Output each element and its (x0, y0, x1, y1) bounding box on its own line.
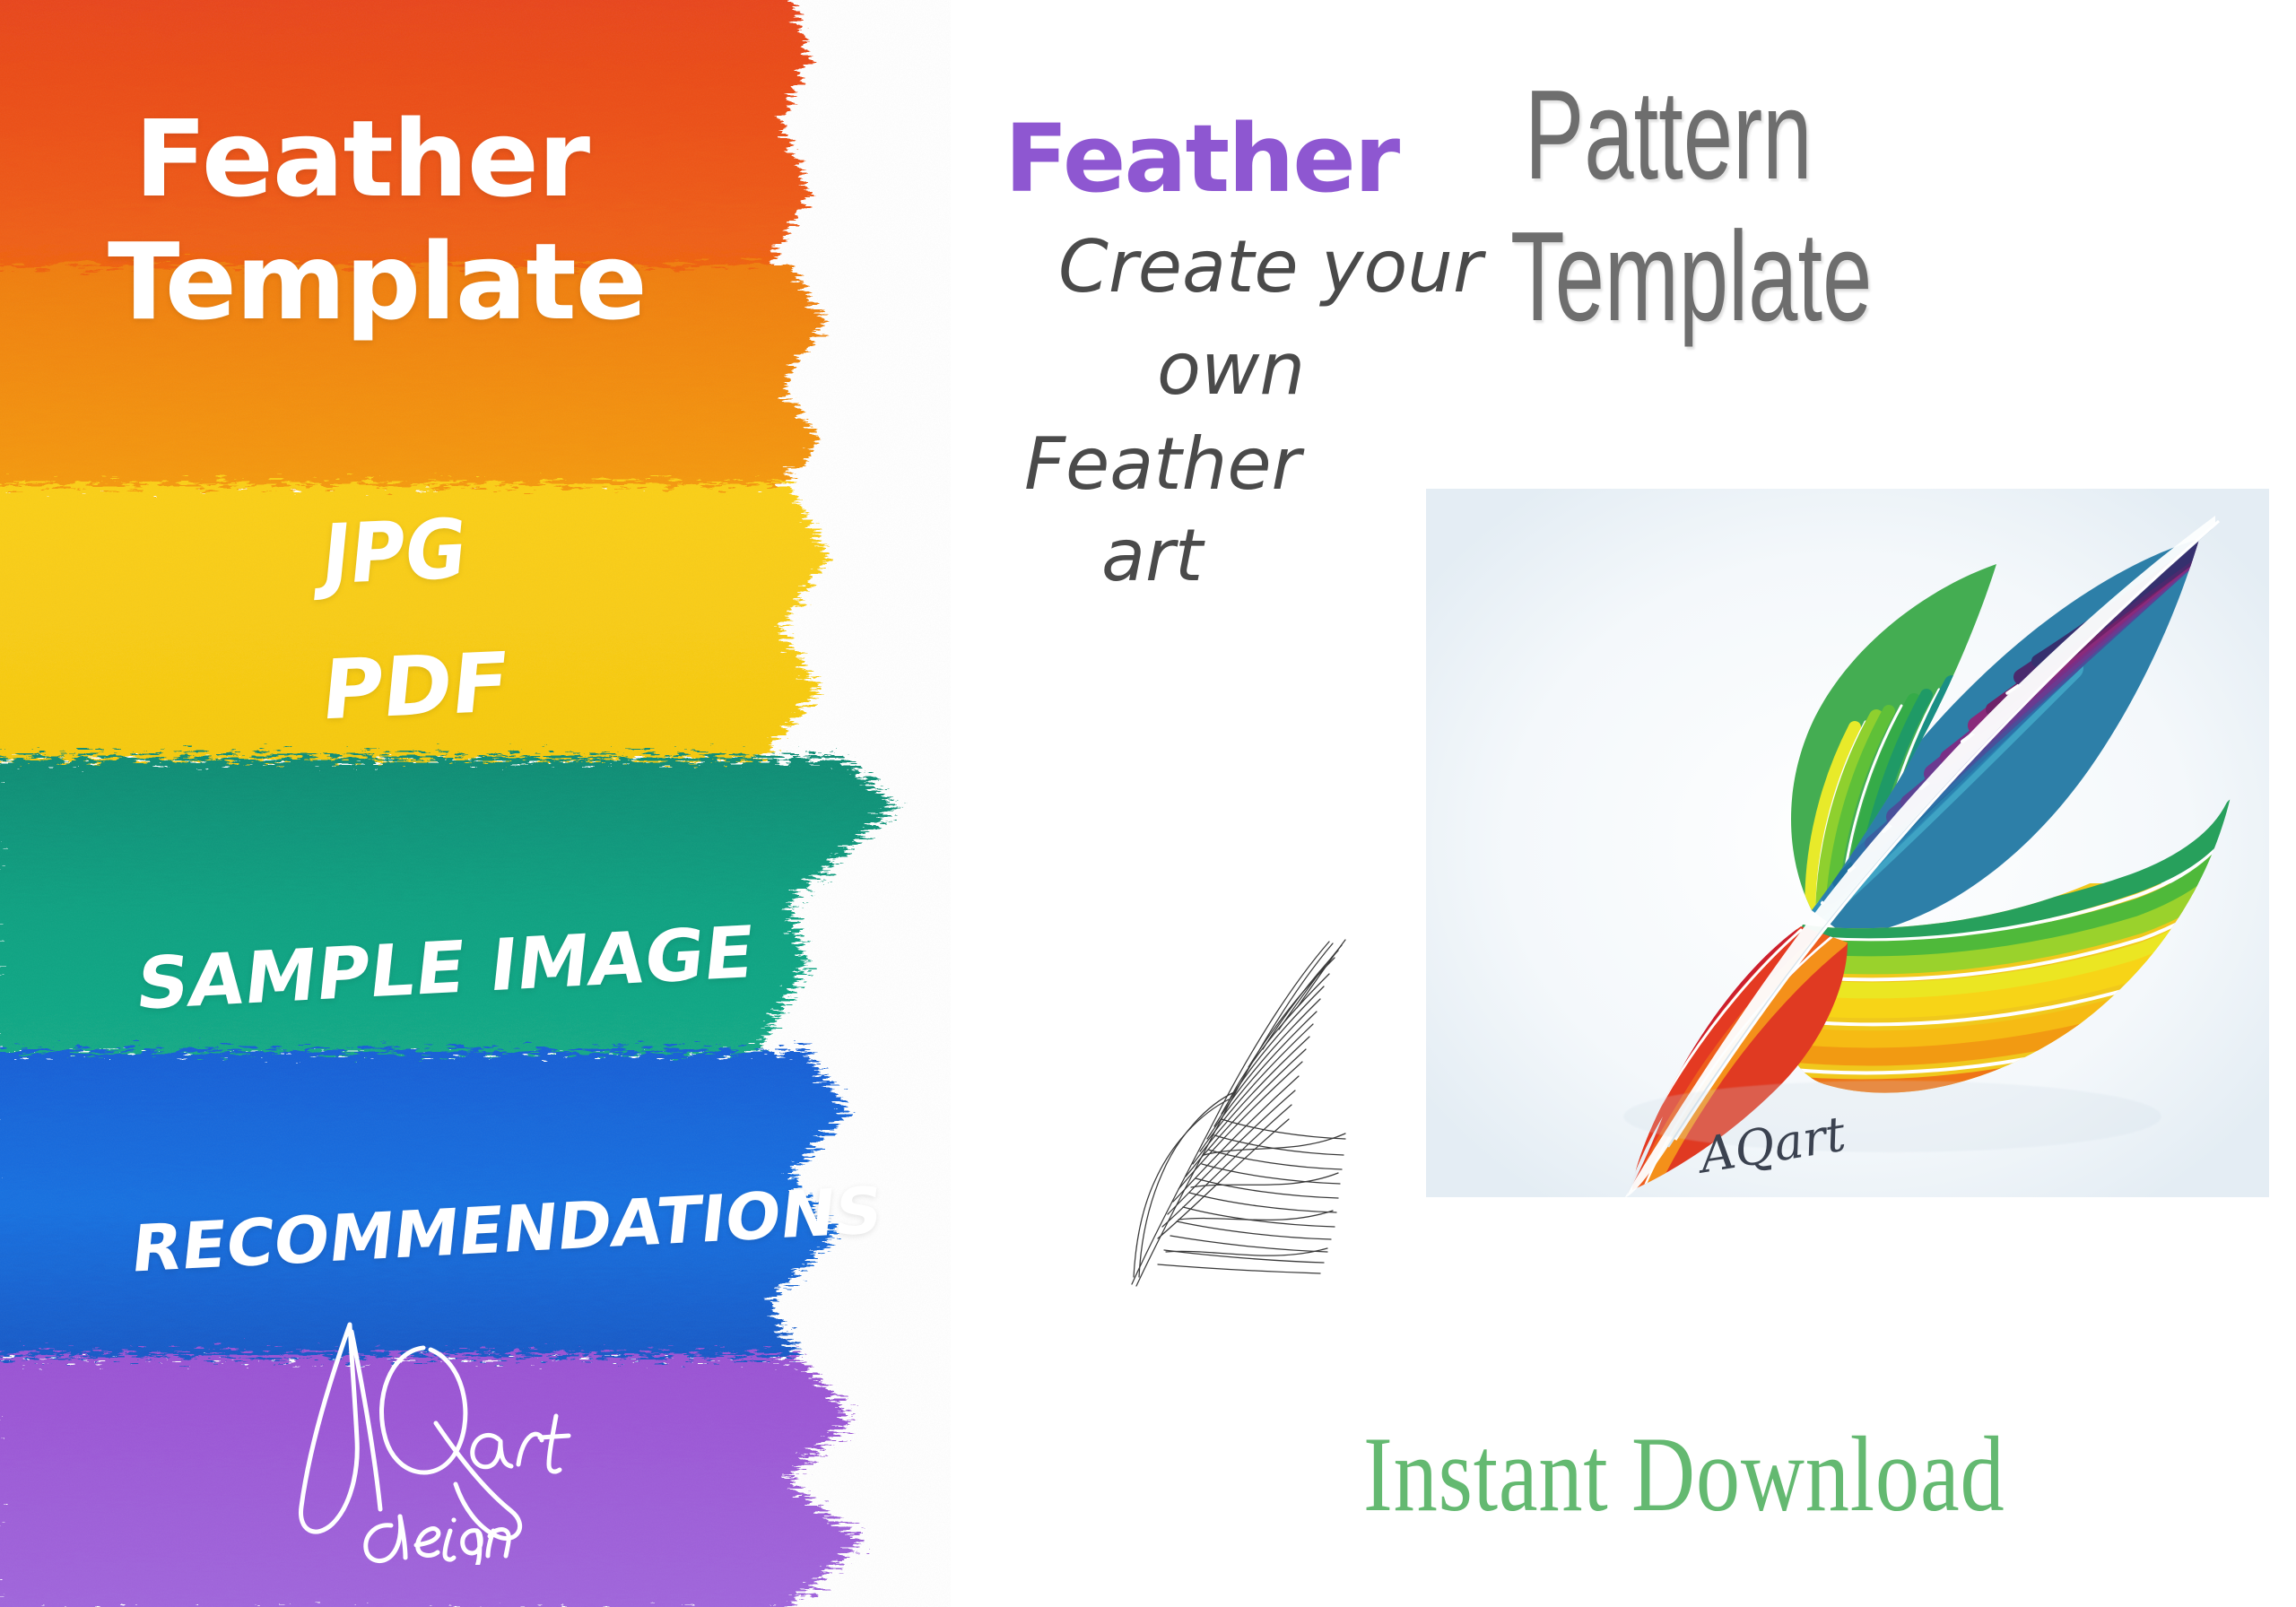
tagline-line-1: Create your (1058, 231, 1483, 303)
right-column: Pattern Template (1507, 0, 2296, 1607)
instant-download-label: Instant Download (1363, 1412, 2005, 1536)
left-headline-line1: Feather (135, 106, 589, 212)
quilled-feather-svg (1426, 489, 2269, 1197)
center-column: Feather Create your own Feather art (978, 0, 1480, 1607)
tagline-line-3: Feather (1024, 429, 1300, 500)
paint-swatch-panel: Feather Template JPG PDF SAMPLE IMAGE RE… (0, 0, 951, 1607)
feature-label-jpg: JPG (318, 508, 470, 597)
tagline-line-4: art (1101, 520, 1203, 592)
feature-label-pdf: PDF (318, 642, 513, 733)
aqart-design-logo (215, 1305, 717, 1565)
left-headline-line2: Template (108, 229, 647, 334)
feather-outline-icon (1121, 915, 1426, 1291)
poster-canvas: Feather Template JPG PDF SAMPLE IMAGE RE… (0, 0, 2296, 1607)
aqart-logo-script-svg (215, 1305, 717, 1565)
right-heading-line1: Pattern (1525, 72, 1812, 199)
rainbow-quilled-feather-artwork: AQart (1426, 489, 2269, 1197)
feather-outline-svg (1121, 915, 1426, 1291)
tagline-line-2: own (1157, 334, 1305, 405)
center-feather-title: Feather (1004, 112, 1398, 205)
right-heading-line2: Template (1510, 213, 1872, 341)
